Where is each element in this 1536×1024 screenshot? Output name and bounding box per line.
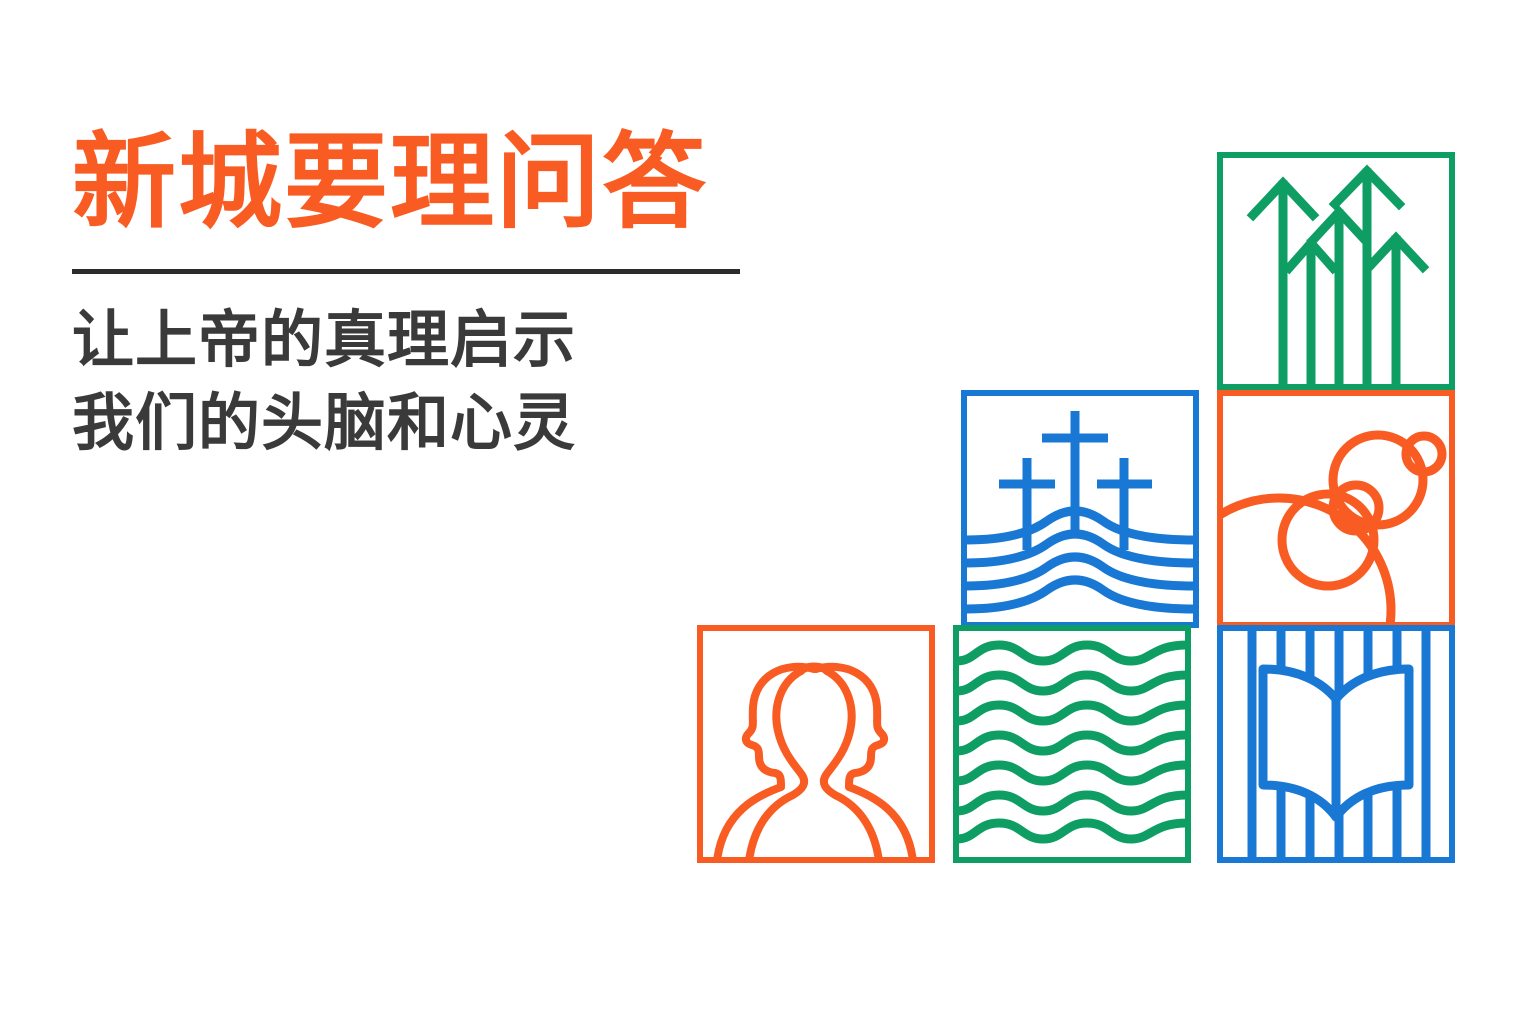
subtitle-line-1: 让上帝的真理启示 — [72, 300, 772, 382]
two-people-icon — [697, 625, 935, 863]
title-block: 新城要理问答 让上帝的真理启示 我们的头脑和心灵 — [72, 128, 772, 465]
page-title: 新城要理问答 — [72, 128, 772, 238]
title-divider — [72, 269, 740, 274]
open-book-icon — [1217, 625, 1455, 863]
bubbles-icon — [1217, 390, 1455, 628]
subtitle-line-2: 我们的头脑和心灵 — [72, 383, 772, 465]
poster-canvas: 新城要理问答 让上帝的真理启示 我们的头脑和心灵 — [0, 0, 1536, 1024]
three-crosses-icon — [961, 390, 1199, 628]
water-waves-icon — [953, 625, 1191, 863]
growth-arrows-icon — [1217, 152, 1455, 390]
